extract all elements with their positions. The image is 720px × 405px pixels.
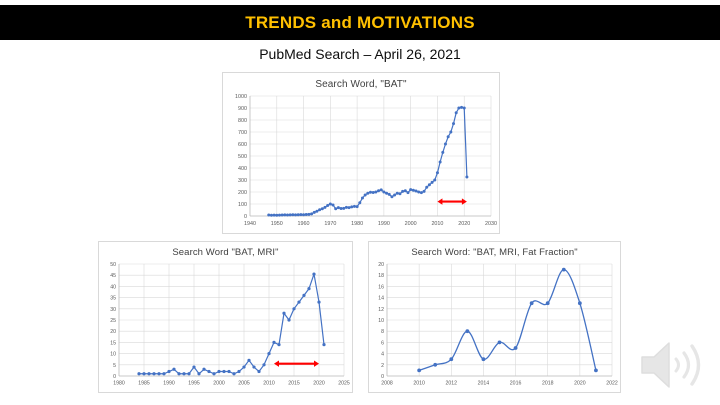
data-point-marker — [329, 203, 332, 206]
x-tick-label: 1980 — [113, 381, 125, 387]
data-point-marker — [377, 189, 380, 192]
data-point-marker — [152, 372, 155, 375]
data-point-marker — [312, 272, 315, 275]
slide-subtitle: PubMed Search – April 26, 2021 — [0, 46, 720, 62]
data-point-marker — [307, 213, 310, 216]
data-point-marker — [345, 206, 348, 209]
data-point-marker — [447, 135, 450, 138]
data-point-marker — [262, 363, 265, 366]
data-point-marker — [385, 192, 388, 195]
data-point-marker — [415, 190, 418, 193]
y-tick-label: 0 — [113, 374, 116, 380]
data-point-marker — [439, 161, 442, 164]
data-point-marker — [356, 205, 359, 208]
data-point-marker — [390, 195, 393, 198]
data-point-marker — [277, 343, 280, 346]
data-point-marker — [177, 372, 180, 375]
plot-area-bat-mri: 0510152025303540455019801985199019952000… — [99, 258, 352, 390]
data-point-marker — [449, 357, 453, 361]
y-tick-label: 40 — [110, 284, 116, 290]
plot-area-bat-mri-fat-fraction: 0246810121416182020082010201220142016201… — [369, 258, 620, 390]
data-point-marker — [417, 369, 421, 373]
data-point-marker — [323, 206, 326, 209]
x-tick-label: 1940 — [244, 221, 256, 227]
data-point-marker — [455, 111, 458, 114]
slide-title-banner: TRENDS and MOTIVATIONS — [0, 5, 720, 40]
data-point-marker — [441, 151, 444, 154]
y-tick-label: 5 — [113, 363, 116, 369]
data-point-marker — [498, 341, 502, 345]
x-tick-label: 2000 — [405, 221, 417, 227]
data-point-marker — [172, 368, 175, 371]
data-point-marker — [162, 372, 165, 375]
data-point-marker — [207, 370, 210, 373]
x-tick-label: 2000 — [213, 381, 225, 387]
data-point-marker — [222, 370, 225, 373]
y-tick-label: 30 — [110, 307, 116, 313]
x-tick-label: 2015 — [288, 381, 300, 387]
y-tick-label: 100 — [238, 202, 247, 208]
chart-bat-mri-fat-fraction: Search Word: "BAT, MRI, Fat Fraction" 02… — [368, 241, 621, 393]
data-point-marker — [217, 370, 220, 373]
data-point-marker — [374, 191, 377, 194]
data-point-marker — [270, 214, 273, 217]
y-tick-label: 25 — [110, 318, 116, 324]
y-tick-label: 35 — [110, 296, 116, 302]
data-point-marker — [302, 213, 305, 216]
data-point-marker — [252, 365, 255, 368]
data-point-marker — [382, 191, 385, 194]
data-point-marker — [142, 372, 145, 375]
chart-bat: Search Word, "BAT" 010020030040050060070… — [222, 72, 500, 234]
data-point-marker — [578, 301, 582, 305]
y-tick-label: 10 — [378, 318, 384, 324]
x-tick-label: 2014 — [478, 381, 490, 387]
plot-svg-bat-mri: 0510152025303540455019801985199019952000… — [99, 258, 352, 390]
data-point-marker — [192, 365, 195, 368]
y-tick-label: 45 — [110, 273, 116, 279]
x-tick-label: 2025 — [338, 381, 350, 387]
data-point-marker — [366, 192, 369, 195]
data-point-marker — [463, 107, 466, 110]
data-point-marker — [297, 213, 300, 216]
data-point-marker — [302, 294, 305, 297]
red-double-arrow-annotation — [274, 360, 319, 366]
y-tick-label: 50 — [110, 262, 116, 268]
y-tick-label: 900 — [238, 106, 247, 112]
data-point-marker — [334, 207, 337, 210]
y-tick-label: 16 — [378, 284, 384, 290]
x-tick-label: 1995 — [188, 381, 200, 387]
data-point-marker — [562, 268, 566, 272]
data-point-marker — [436, 171, 439, 174]
x-tick-label: 1985 — [138, 381, 150, 387]
plot-svg-bat-mri-ff: 0246810121416182020082010201220142016201… — [369, 258, 620, 390]
data-point-marker — [332, 203, 335, 206]
data-point-marker — [157, 372, 160, 375]
data-point-marker — [530, 301, 534, 305]
y-tick-label: 400 — [238, 166, 247, 172]
data-point-marker — [428, 183, 431, 186]
data-point-marker — [398, 192, 401, 195]
y-tick-label: 18 — [378, 273, 384, 279]
data-point-marker — [393, 194, 396, 197]
x-tick-label: 2022 — [606, 381, 618, 387]
data-point-marker — [202, 368, 205, 371]
data-point-marker — [227, 370, 230, 373]
data-point-marker — [283, 213, 286, 216]
data-point-marker — [350, 205, 353, 208]
data-point-marker — [482, 357, 486, 361]
data-point-marker — [465, 176, 468, 179]
chart-title-bat: Search Word, "BAT" — [223, 73, 499, 90]
data-point-marker — [452, 122, 455, 125]
x-tick-label: 2010 — [263, 381, 275, 387]
data-point-marker — [267, 214, 270, 217]
x-tick-label: 2008 — [381, 381, 393, 387]
speaker-audio-icon[interactable] — [636, 336, 708, 394]
data-point-marker — [401, 190, 404, 193]
data-point-marker — [137, 372, 140, 375]
data-point-marker — [431, 181, 434, 184]
data-point-marker — [299, 213, 302, 216]
chart-bat-mri: Search Word "BAT, MRI" 05101520253035404… — [98, 241, 353, 393]
data-point-marker — [460, 106, 463, 109]
x-tick-label: 2020 — [458, 221, 470, 227]
x-tick-label: 1990 — [163, 381, 175, 387]
data-point-marker — [457, 107, 460, 110]
x-tick-label: 2016 — [510, 381, 522, 387]
y-tick-label: 12 — [378, 307, 384, 313]
data-point-marker — [396, 192, 399, 195]
data-point-marker — [514, 346, 518, 350]
data-point-marker — [412, 189, 415, 192]
data-point-marker — [167, 370, 170, 373]
data-point-marker — [147, 372, 150, 375]
y-tick-label: 800 — [238, 118, 247, 124]
data-point-marker — [247, 359, 250, 362]
y-tick-label: 500 — [238, 154, 247, 160]
y-tick-label: 6 — [381, 340, 384, 346]
data-point-marker — [449, 131, 452, 134]
data-point-marker — [326, 204, 329, 207]
data-point-marker — [342, 207, 345, 210]
x-tick-label: 2005 — [238, 381, 250, 387]
y-tick-label: 0 — [244, 214, 247, 220]
y-tick-label: 200 — [238, 190, 247, 196]
x-tick-label: 1980 — [351, 221, 363, 227]
x-tick-label: 2020 — [313, 381, 325, 387]
page-title: TRENDS and MOTIVATIONS — [245, 13, 475, 33]
data-point-marker — [287, 318, 290, 321]
y-tick-label: 700 — [238, 130, 247, 136]
data-point-marker — [546, 301, 550, 305]
y-tick-label: 1000 — [235, 94, 247, 100]
data-point-marker — [278, 214, 281, 217]
x-tick-label: 2030 — [485, 221, 497, 227]
data-point-marker — [282, 312, 285, 315]
data-point-marker — [281, 214, 284, 217]
data-point-marker — [594, 369, 598, 373]
data-point-marker — [292, 307, 295, 310]
data-point-marker — [197, 372, 200, 375]
data-point-marker — [297, 300, 300, 303]
data-point-marker — [286, 214, 289, 217]
data-point-marker — [361, 197, 364, 200]
data-point-marker — [337, 206, 340, 209]
data-point-marker — [310, 212, 313, 215]
data-point-marker — [404, 189, 407, 192]
data-point-marker — [317, 300, 320, 303]
x-tick-label: 1950 — [271, 221, 283, 227]
data-point-marker — [242, 365, 245, 368]
data-point-marker — [369, 191, 372, 194]
data-point-marker — [364, 194, 367, 197]
data-point-marker — [348, 206, 351, 209]
data-point-marker — [388, 193, 391, 196]
data-point-marker — [465, 329, 469, 333]
data-point-marker — [273, 214, 276, 217]
y-tick-label: 14 — [378, 296, 384, 302]
data-point-marker — [275, 214, 278, 217]
data-series-line — [139, 274, 324, 374]
data-point-marker — [237, 370, 240, 373]
y-tick-label: 2 — [381, 363, 384, 369]
data-point-marker — [232, 372, 235, 375]
data-point-marker — [406, 191, 409, 194]
data-point-marker — [380, 188, 383, 191]
data-point-marker — [340, 207, 343, 210]
y-tick-label: 300 — [238, 178, 247, 184]
data-point-marker — [423, 190, 426, 193]
data-point-marker — [182, 372, 185, 375]
data-point-marker — [291, 213, 294, 216]
x-tick-label: 1990 — [378, 221, 390, 227]
data-point-marker — [425, 186, 428, 189]
data-point-marker — [187, 372, 190, 375]
data-point-marker — [307, 287, 310, 290]
data-point-marker — [417, 191, 420, 194]
plot-area-bat: 0100200300400500600700800900100019401950… — [223, 90, 499, 230]
data-point-marker — [305, 213, 308, 216]
data-point-marker — [321, 207, 324, 210]
plot-svg-bat: 0100200300400500600700800900100019401950… — [223, 90, 499, 230]
data-point-marker — [444, 143, 447, 146]
data-point-marker — [322, 343, 325, 346]
data-point-marker — [433, 363, 437, 367]
x-tick-label: 2012 — [446, 381, 458, 387]
y-tick-label: 4 — [381, 352, 384, 358]
y-tick-label: 10 — [110, 352, 116, 358]
chart-title-bat-mri: Search Word "BAT, MRI" — [99, 242, 352, 258]
x-tick-label: 2018 — [542, 381, 554, 387]
data-point-marker — [289, 213, 292, 216]
data-point-marker — [409, 188, 412, 191]
data-point-marker — [313, 211, 316, 214]
data-point-marker — [315, 210, 318, 213]
data-point-marker — [212, 372, 215, 375]
data-point-marker — [358, 201, 361, 204]
y-tick-label: 15 — [110, 340, 116, 346]
y-tick-label: 20 — [378, 262, 384, 268]
data-point-marker — [433, 179, 436, 182]
chart-title-bat-mri-fat-fraction: Search Word: "BAT, MRI, Fat Fraction" — [369, 242, 620, 258]
x-tick-label: 1970 — [324, 221, 336, 227]
x-tick-label: 2010 — [413, 381, 425, 387]
data-point-marker — [257, 370, 260, 373]
data-point-marker — [353, 205, 356, 208]
data-point-marker — [294, 213, 297, 216]
y-tick-label: 20 — [110, 329, 116, 335]
y-tick-label: 8 — [381, 329, 384, 335]
data-point-marker — [420, 191, 423, 194]
y-tick-label: 0 — [381, 374, 384, 380]
x-tick-label: 1960 — [298, 221, 310, 227]
x-tick-label: 2010 — [431, 221, 443, 227]
speaker-audio-icon-glyph — [636, 336, 708, 394]
x-tick-label: 2020 — [574, 381, 586, 387]
data-point-marker — [272, 341, 275, 344]
data-point-marker — [267, 352, 270, 355]
data-point-marker — [372, 191, 375, 194]
y-tick-label: 600 — [238, 142, 247, 148]
data-point-marker — [318, 208, 321, 211]
